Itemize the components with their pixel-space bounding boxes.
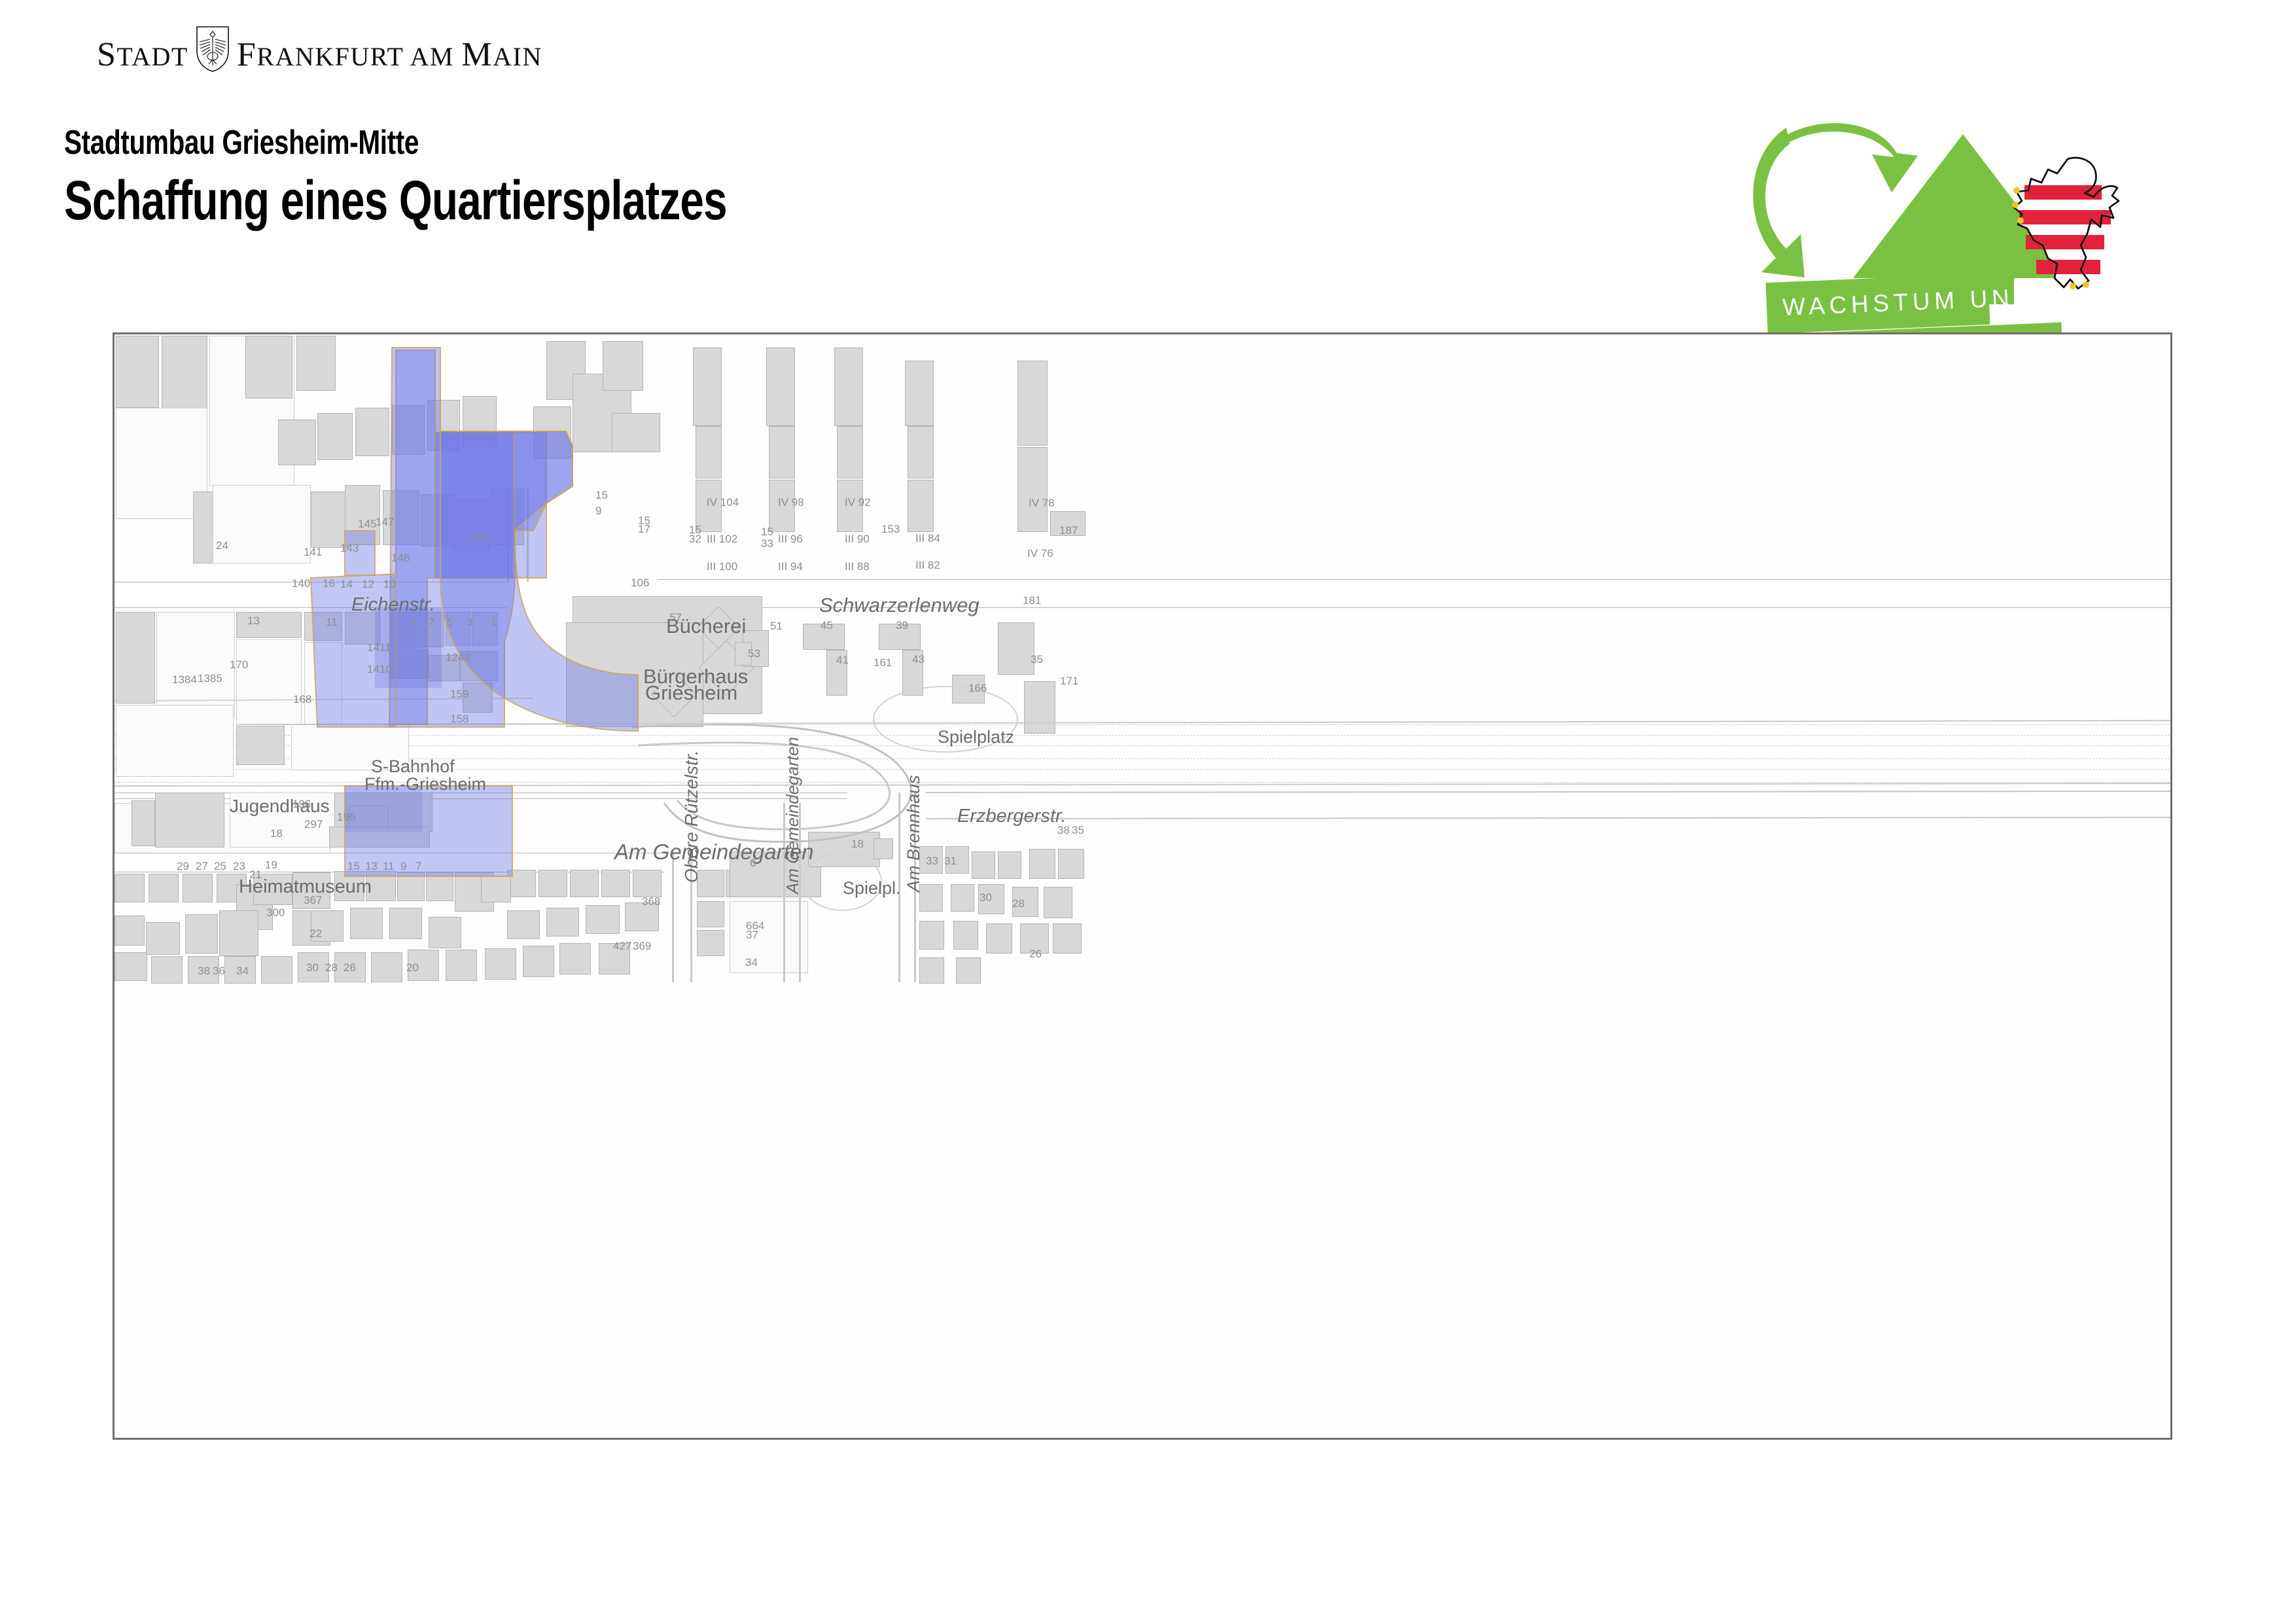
footer: Bundesministerium für Wohnen, Stadtentwi…: [0, 1476, 2296, 1623]
parcel-number: 141: [304, 546, 322, 559]
parcel-number: IV 78: [1029, 497, 1055, 510]
parcel-number: 171: [1060, 675, 1078, 688]
parcel-number: 20: [406, 961, 419, 974]
parcel-number: 140: [292, 577, 310, 590]
parcel-number: 30: [980, 891, 992, 904]
parcel-number: 22: [309, 927, 322, 940]
map-canvas: Eichenstr.SchwarzerlenwegAm Gemeindegart…: [115, 334, 2170, 1438]
parcel-number: 1248: [446, 651, 470, 664]
parcel-number: III 96: [778, 533, 803, 546]
parcel-number: 31: [944, 855, 957, 868]
parcel-number: 368: [642, 895, 660, 908]
parcel-number: 161: [874, 656, 892, 669]
parcel-number: 5: [447, 616, 453, 629]
street-label: Obere Rützelstr.: [681, 750, 702, 883]
parcel-number: 53: [748, 647, 760, 660]
parcel-number: 25: [214, 860, 226, 873]
parcel-number: 151: [471, 531, 489, 544]
parcel-number: 106: [631, 577, 649, 590]
parcel-number: 29: [177, 860, 189, 873]
parcel-number: III 90: [845, 533, 870, 546]
parcel-number: 35: [1072, 824, 1084, 837]
title-block: Stadtumbau Griesheim-Mitte Schaffung ein…: [64, 123, 913, 232]
parcel-number: 23: [233, 860, 245, 873]
street-label: Eichenstr.: [351, 594, 435, 616]
page-subtitle: Stadtumbau Griesheim-Mitte: [64, 123, 727, 162]
parcel-number: 18: [270, 827, 283, 840]
page-title: Schaffung eines Quartiersplatzes: [64, 169, 727, 232]
parcel-number: 9: [595, 505, 601, 518]
parcel-number: 19: [265, 859, 277, 872]
parcel-number: 15: [347, 860, 360, 873]
parcel-number: 427: [613, 940, 631, 953]
place-label: Jugendhaus: [230, 796, 330, 817]
parcel-number: 145: [358, 518, 376, 531]
parcel-number: IV 92: [845, 496, 871, 509]
parcel-number: 146: [391, 552, 410, 565]
parcel-number: 369: [633, 940, 651, 953]
parcel-number: 11: [326, 616, 338, 629]
parcel-number: IV 104: [707, 496, 739, 509]
parcel-number: 1384: [172, 673, 197, 687]
parcel-number: 297: [304, 818, 323, 831]
place-label: Griesheim: [645, 681, 737, 705]
parcel-number: 7: [415, 860, 421, 873]
parcel-number: 45: [821, 619, 833, 632]
place-label: Spielpl.: [843, 878, 901, 899]
parcel-number: 13: [365, 860, 378, 873]
place-label: Spielplatz: [938, 727, 1014, 747]
parcel-number: 181: [1023, 594, 1041, 607]
parcel-number: III 84: [915, 532, 940, 545]
parcel-number: IV 76: [1027, 547, 1053, 560]
parcel-number: 16: [323, 577, 335, 590]
parcel-number: 26: [1029, 948, 1042, 961]
parcel-number: III 94: [778, 560, 803, 573]
parcel-number: 300: [266, 906, 285, 919]
parcel-number: 27: [196, 860, 208, 873]
parcel-number: 51: [770, 620, 783, 633]
parcel-number: IV 98: [778, 496, 804, 509]
parcel-number: 147: [376, 516, 394, 529]
parcel-number: 9: [400, 860, 406, 873]
parcel-number: 24: [216, 539, 228, 552]
parcel-number: 10: [383, 578, 396, 591]
parcel-number: 37: [746, 929, 758, 942]
city-logo-frankfurt-am-main: FRANKFURT AM MAIN: [237, 38, 542, 72]
cadastral-map[interactable]: Eichenstr.SchwarzerlenwegAm Gemeindegart…: [113, 332, 2172, 1440]
street-label: Schwarzerlenweg: [819, 594, 980, 617]
parcel-number: 153: [881, 523, 900, 536]
parcel-number: 35: [1031, 653, 1043, 666]
parcel-number: III 88: [845, 560, 870, 573]
parcel-number: 1: [491, 616, 497, 629]
parcel-number: 26: [344, 961, 356, 974]
parcel-number: 158: [450, 713, 468, 726]
place-label: Ffm.-Griesheim: [364, 774, 486, 794]
parcel-number: 30: [306, 961, 319, 974]
parcel-number: 17: [638, 523, 650, 536]
parcel-number: 166: [968, 682, 987, 695]
frankfurt-eagle-crest-icon: [195, 25, 230, 72]
city-of-frankfurt-logo: STADT FRANKFURT AM MAIN: [97, 25, 542, 72]
parcel-number: 12: [362, 578, 374, 591]
parcel-number: 18: [851, 838, 864, 851]
program-logo-line1: WACHSTUM UND: [1766, 274, 1990, 334]
street-label: Am Brennhaus: [904, 775, 924, 892]
parcel-number: 3: [467, 616, 472, 629]
hessen-lion-icon: [2002, 147, 2127, 311]
parcel-number: 15: [595, 489, 608, 502]
project-area-overlay: [115, 334, 2172, 1440]
parcel-number: 21: [249, 868, 262, 882]
parcel-number: 1385: [198, 672, 222, 685]
parcel-number: 38: [198, 965, 210, 978]
city-logo-stadt: STADT: [97, 38, 188, 72]
parcel-number: 1410: [367, 663, 392, 676]
parcel-number: 34: [236, 965, 249, 978]
parcel-number: 170: [230, 658, 248, 671]
parcel-number: 187: [1059, 524, 1078, 537]
parcel-number: 28: [325, 961, 338, 974]
parcel-number: 39: [896, 619, 908, 632]
parcel-number: III 82: [915, 559, 940, 572]
parcel-number: 33: [926, 855, 938, 868]
parcel-number: 367: [304, 894, 322, 907]
parcel-number: 57: [669, 611, 682, 624]
parcel-number: 7: [429, 616, 434, 629]
parcel-number: 28: [1012, 897, 1025, 910]
parcel-number: 33: [761, 537, 773, 550]
parcel-number: 38: [1057, 824, 1070, 837]
parcel-number: 6: [750, 857, 756, 870]
parcel-number: 159: [450, 688, 468, 701]
parcel-number: III 102: [707, 533, 737, 546]
parcel-number: 43: [912, 653, 925, 666]
parcel-number: 196: [292, 798, 311, 811]
parcel-number: 32: [689, 533, 701, 546]
poster-page: STADT FRANKFURT AM MAIN Stadtumbau Gries…: [0, 0, 2296, 1623]
parcel-number: 14: [340, 578, 353, 591]
parcel-number: 1411: [367, 641, 391, 654]
parcel-number: 9: [410, 616, 416, 629]
parcel-number: 168: [293, 693, 311, 706]
parcel-number: 143: [340, 542, 359, 555]
parcel-number: III 100: [707, 560, 737, 573]
parcel-number: 34: [745, 956, 758, 969]
street-label: Am Gemeindegarten: [783, 737, 803, 894]
parcel-number: 196: [337, 811, 355, 824]
street-label: Erzbergerstr.: [957, 806, 1067, 827]
parcel-number: 41: [836, 654, 849, 667]
parcel-number: 11: [383, 860, 395, 873]
parcel-number: 15: [761, 526, 773, 539]
parcel-number: 36: [213, 965, 225, 978]
parcel-number: 13: [247, 615, 260, 628]
